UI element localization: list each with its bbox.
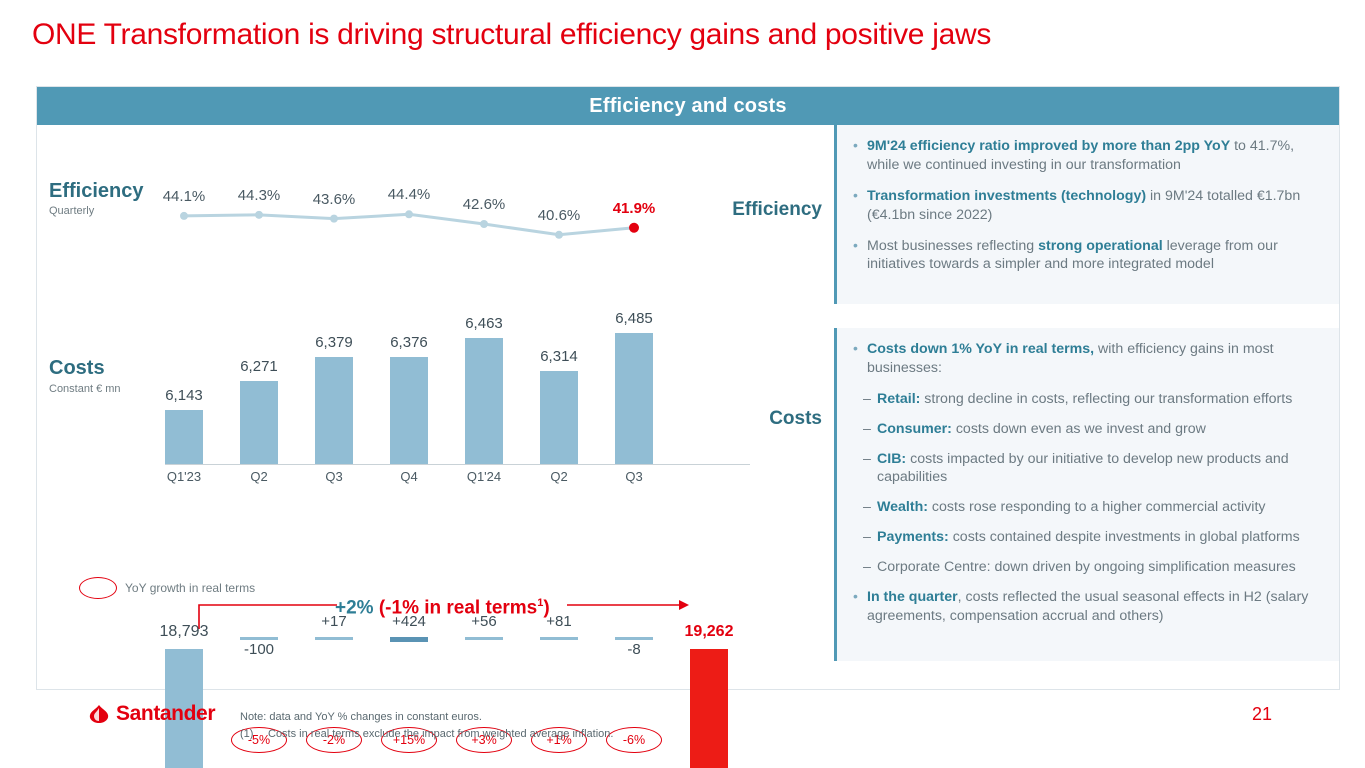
efficiency-bullet-item: Most businesses reflecting strong operat…: [851, 237, 1323, 275]
x-axis-tick-label: Q2: [519, 469, 599, 484]
costs-chart-sublabel: Constant € mn: [49, 383, 121, 395]
bullet-text: costs impacted by our initiative to deve…: [877, 451, 1289, 486]
charts-column: Efficiency Quarterly Costs Constant € mn…: [37, 125, 792, 690]
costs-commentary-panel: Costs down 1% YoY in real terms, with ef…: [834, 328, 1339, 661]
footnote-number: (1): [240, 726, 268, 743]
costs-bullet-item: In the quarter, costs reflected the usua…: [851, 588, 1323, 626]
bar-q3: [615, 333, 653, 464]
waterfall-value-label: 19,262: [669, 623, 749, 641]
x-axis-tick-label: Q3: [594, 469, 674, 484]
bullet-emphasis: CIB:: [877, 451, 906, 467]
slide: ONE Transformation is driving structural…: [0, 0, 1365, 768]
bar-value-label: 6,271: [224, 358, 294, 375]
bar-q4: [390, 357, 428, 464]
costs-bullet-item: CIB: costs impacted by our initiative to…: [851, 450, 1323, 488]
waterfall-step-bar: [465, 637, 503, 640]
bullet-emphasis: Retail:: [877, 391, 920, 407]
bullet-emphasis: Wealth:: [877, 499, 928, 515]
santander-wordmark: Santander: [116, 702, 215, 726]
efficiency-chart-sublabel: Quarterly: [49, 205, 94, 217]
waterfall-step-bar: [615, 637, 653, 640]
x-axis-tick-label: Q1'23: [144, 469, 224, 484]
bar-q123: [165, 410, 203, 464]
bullet-emphasis: strong operational: [1038, 238, 1163, 254]
efficiency-bullet-item: 9M'24 efficiency ratio improved by more …: [851, 137, 1323, 175]
yoy-legend-ellipse-icon: [79, 577, 117, 599]
efficiency-chart-label: Efficiency: [49, 180, 143, 203]
bar-value-label: 6,485: [599, 310, 669, 327]
bar-value-label: 6,379: [299, 334, 369, 351]
x-axis-tick-label: Q3: [294, 469, 374, 484]
bullet-text: Most businesses reflecting: [867, 238, 1038, 254]
bullet-emphasis: In the quarter: [867, 589, 958, 605]
costs-bullet-item: Wealth: costs rose responding to a highe…: [851, 498, 1323, 517]
efficiency-ratio-label: 44.3%: [224, 187, 294, 204]
costs-bullet-item: Corporate Centre: down driven by ongoing…: [851, 558, 1323, 577]
costs-section-label: Costs: [732, 408, 822, 430]
waterfall-value-label: +424: [369, 613, 449, 630]
page-title: ONE Transformation is driving structural…: [32, 18, 991, 52]
bar-q2: [540, 371, 578, 464]
bar-value-label: 6,314: [524, 348, 594, 365]
waterfall-step-bar: [390, 637, 428, 642]
bar-q2: [240, 381, 278, 464]
quarterly-chart: 6,143Q1'236,271Q26,379Q36,376Q46,463Q1'2…: [147, 175, 767, 465]
waterfall-value-label: 18,793: [144, 623, 224, 641]
waterfall-value-label: -8: [594, 641, 674, 658]
content-card: Efficiency and costs Efficiency Quarterl…: [36, 86, 1340, 690]
footnotes: Note: data and YoY % changes in constant…: [240, 709, 613, 742]
bar-value-label: 6,463: [449, 315, 519, 332]
x-axis-tick-label: Q2: [219, 469, 299, 484]
santander-logo: Santander: [88, 702, 215, 726]
bullet-text: strong decline in costs, reflecting our …: [920, 391, 1292, 407]
santander-flame-icon: [88, 704, 110, 724]
efficiency-commentary-panel: 9M'24 efficiency ratio improved by more …: [834, 125, 1339, 304]
waterfall-value-label: +56: [444, 613, 524, 630]
efficiency-ratio-label: 42.6%: [449, 196, 519, 213]
waterfall-bar-end: [690, 649, 728, 768]
bar-value-label: 6,143: [149, 387, 219, 404]
costs-chart-label: Costs: [49, 357, 105, 380]
costs-bullet-item: Payments: costs contained despite invest…: [851, 528, 1323, 547]
page-number: 21: [1252, 704, 1272, 725]
yoy-real-terms-bubble: -6%: [606, 727, 662, 753]
commentary-column: Efficiency 9M'24 efficiency ratio improv…: [792, 125, 1341, 690]
costs-bullet-list: Costs down 1% YoY in real terms, with ef…: [851, 340, 1323, 626]
x-axis-line: [165, 464, 750, 465]
efficiency-ratio-label: 40.6%: [524, 207, 594, 224]
waterfall-value-label: -100: [219, 641, 299, 658]
card-header: Efficiency and costs: [37, 87, 1339, 125]
footnote-line-2: (1)Costs in real terms exclude the impac…: [240, 726, 613, 743]
x-axis-tick-label: Q1'24: [444, 469, 524, 484]
bullet-text: costs down even as we invest and grow: [952, 421, 1206, 437]
footnote-text: Costs in real terms exclude the impact f…: [268, 728, 613, 740]
efficiency-ratio-label: 44.1%: [149, 188, 219, 205]
bullet-text: costs contained despite investments in g…: [949, 529, 1300, 545]
bar-value-label: 6,376: [374, 334, 444, 351]
waterfall-step-bar: [240, 637, 278, 640]
bullet-emphasis: 9M'24 efficiency ratio improved by more …: [867, 138, 1230, 154]
yoy-legend-label: YoY growth in real terms: [125, 581, 255, 595]
card-body: Efficiency Quarterly Costs Constant € mn…: [37, 125, 1339, 690]
bullet-emphasis: Costs down 1% YoY in real terms,: [867, 341, 1094, 357]
footnote-line-1: Note: data and YoY % changes in constant…: [240, 709, 613, 726]
efficiency-section-label: Efficiency: [732, 199, 822, 221]
costs-bullet-item: Costs down 1% YoY in real terms, with ef…: [851, 340, 1323, 378]
bullet-emphasis: Consumer:: [877, 421, 952, 437]
waterfall-chart: 18,7939M'23-100-5%Retail+17-2%Consumer+4…: [147, 595, 767, 690]
efficiency-ratio-label: 44.4%: [374, 186, 444, 203]
efficiency-bullet-item: Transformation investments (technology) …: [851, 187, 1323, 225]
card-header-title: Efficiency and costs: [589, 95, 786, 118]
efficiency-ratio-label: 41.9%: [599, 200, 669, 217]
efficiency-ratio-label: 43.6%: [299, 191, 369, 208]
bullet-emphasis: Transformation investments (technology): [867, 188, 1146, 204]
efficiency-bullet-list: 9M'24 efficiency ratio improved by more …: [851, 137, 1323, 274]
x-axis-tick-label: Q4: [369, 469, 449, 484]
waterfall-step-bar: [315, 637, 353, 640]
waterfall-value-label: +17: [294, 613, 374, 630]
bar-q124: [465, 338, 503, 464]
bar-q3: [315, 357, 353, 464]
bullet-emphasis: Payments:: [877, 529, 949, 545]
costs-bullet-item: Retail: strong decline in costs, reflect…: [851, 390, 1323, 409]
waterfall-step-bar: [540, 637, 578, 640]
waterfall-value-label: +81: [519, 613, 599, 630]
bullet-text: costs rose responding to a higher commer…: [928, 499, 1266, 515]
bullet-text: Corporate Centre: down driven by ongoing…: [877, 559, 1296, 575]
costs-bullet-item: Consumer: costs down even as we invest a…: [851, 420, 1323, 439]
